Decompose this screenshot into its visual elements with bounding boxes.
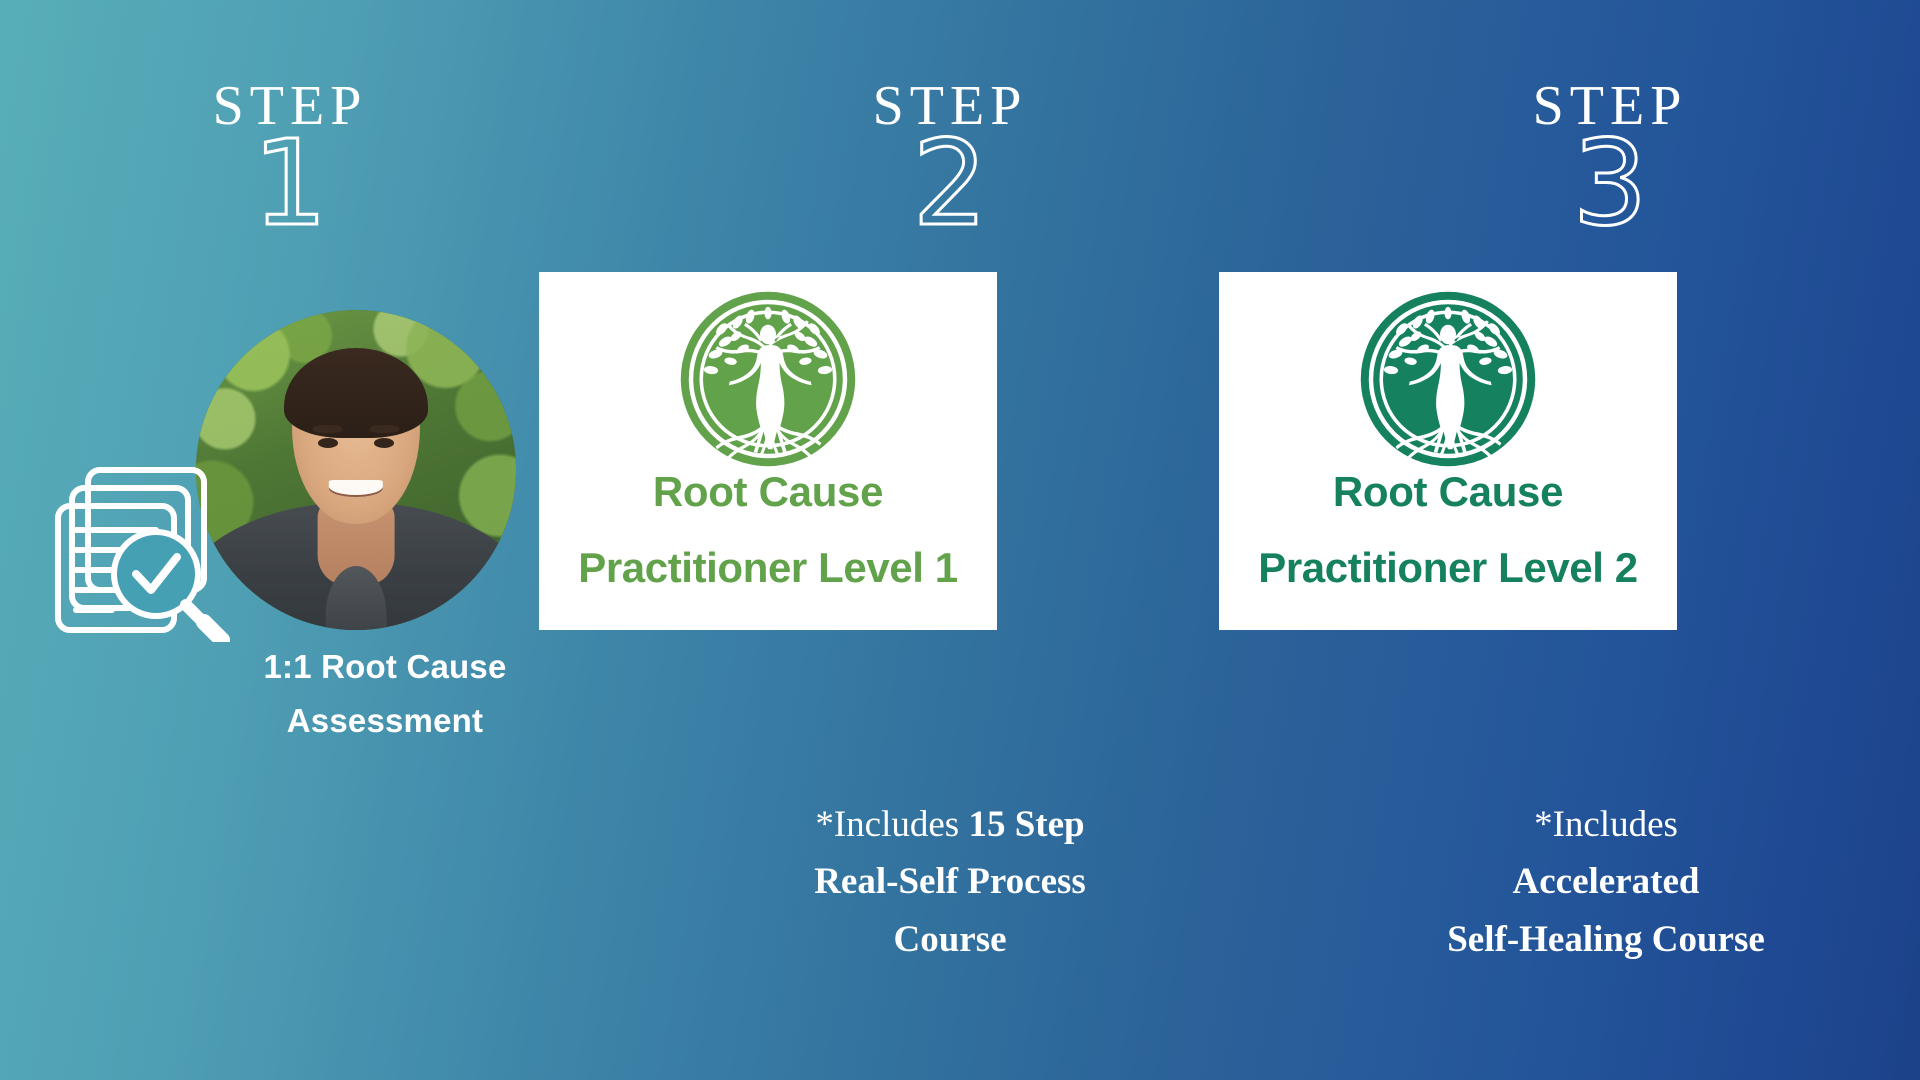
card-title-line-2: Practitioner Level 2 — [1219, 544, 1677, 592]
step-3-note: *Includes Accelerated Self-Healing Cours… — [1286, 796, 1920, 968]
product-card-level-1[interactable]: Root Cause Practitioner Level 1 — [539, 272, 997, 630]
photo-eyebrow-right — [370, 425, 399, 433]
step-1-number: 1 — [0, 124, 610, 242]
step-2-note: *Includes 15 Step Real-Self Process Cour… — [630, 796, 1270, 968]
step-1-caption-line-2: Assessment — [150, 694, 620, 748]
tree-of-life-logo — [1348, 290, 1548, 468]
note-bold: 15 Step — [968, 804, 1084, 845]
step-2-note-line-3: Course — [893, 919, 1006, 960]
note-plain: *Includes — [815, 804, 968, 845]
step-column-3: STEP 3 — [1280, 0, 1920, 1080]
note-plain: *Includes — [1534, 804, 1678, 845]
photo-eyebrow-left — [313, 425, 342, 433]
infographic-canvas: STEP 1 — [0, 0, 1920, 1080]
card-title-line-1: Root Cause — [539, 468, 997, 516]
tree-of-life-logo — [668, 290, 868, 468]
step-2-note-line-1: *Includes 15 Step — [630, 796, 1270, 853]
coach-portrait-photo — [196, 310, 516, 630]
step-2-note-line-2: Real-Self Process — [814, 861, 1086, 902]
photo-smile — [329, 480, 383, 498]
card-title-line-1: Root Cause — [1219, 468, 1677, 516]
card-title-line-2: Practitioner Level 1 — [539, 544, 997, 592]
step-column-2: STEP 2 — [640, 0, 1280, 1080]
product-card-level-2[interactable]: Root Cause Practitioner Level 2 — [1219, 272, 1677, 630]
step-3-note-line-3: Self-Healing Course — [1447, 919, 1765, 960]
step-3-note-line-2: Accelerated — [1513, 861, 1700, 902]
step-1-caption-line-1: 1:1 Root Cause — [150, 640, 620, 694]
document-search-check-icon — [52, 462, 242, 642]
step-3-number: 3 — [1290, 124, 1920, 242]
step-2-number: 2 — [630, 124, 1270, 242]
step-1-caption: 1:1 Root Cause Assessment — [150, 640, 620, 749]
step-3-note-line-1: *Includes — [1286, 796, 1920, 853]
